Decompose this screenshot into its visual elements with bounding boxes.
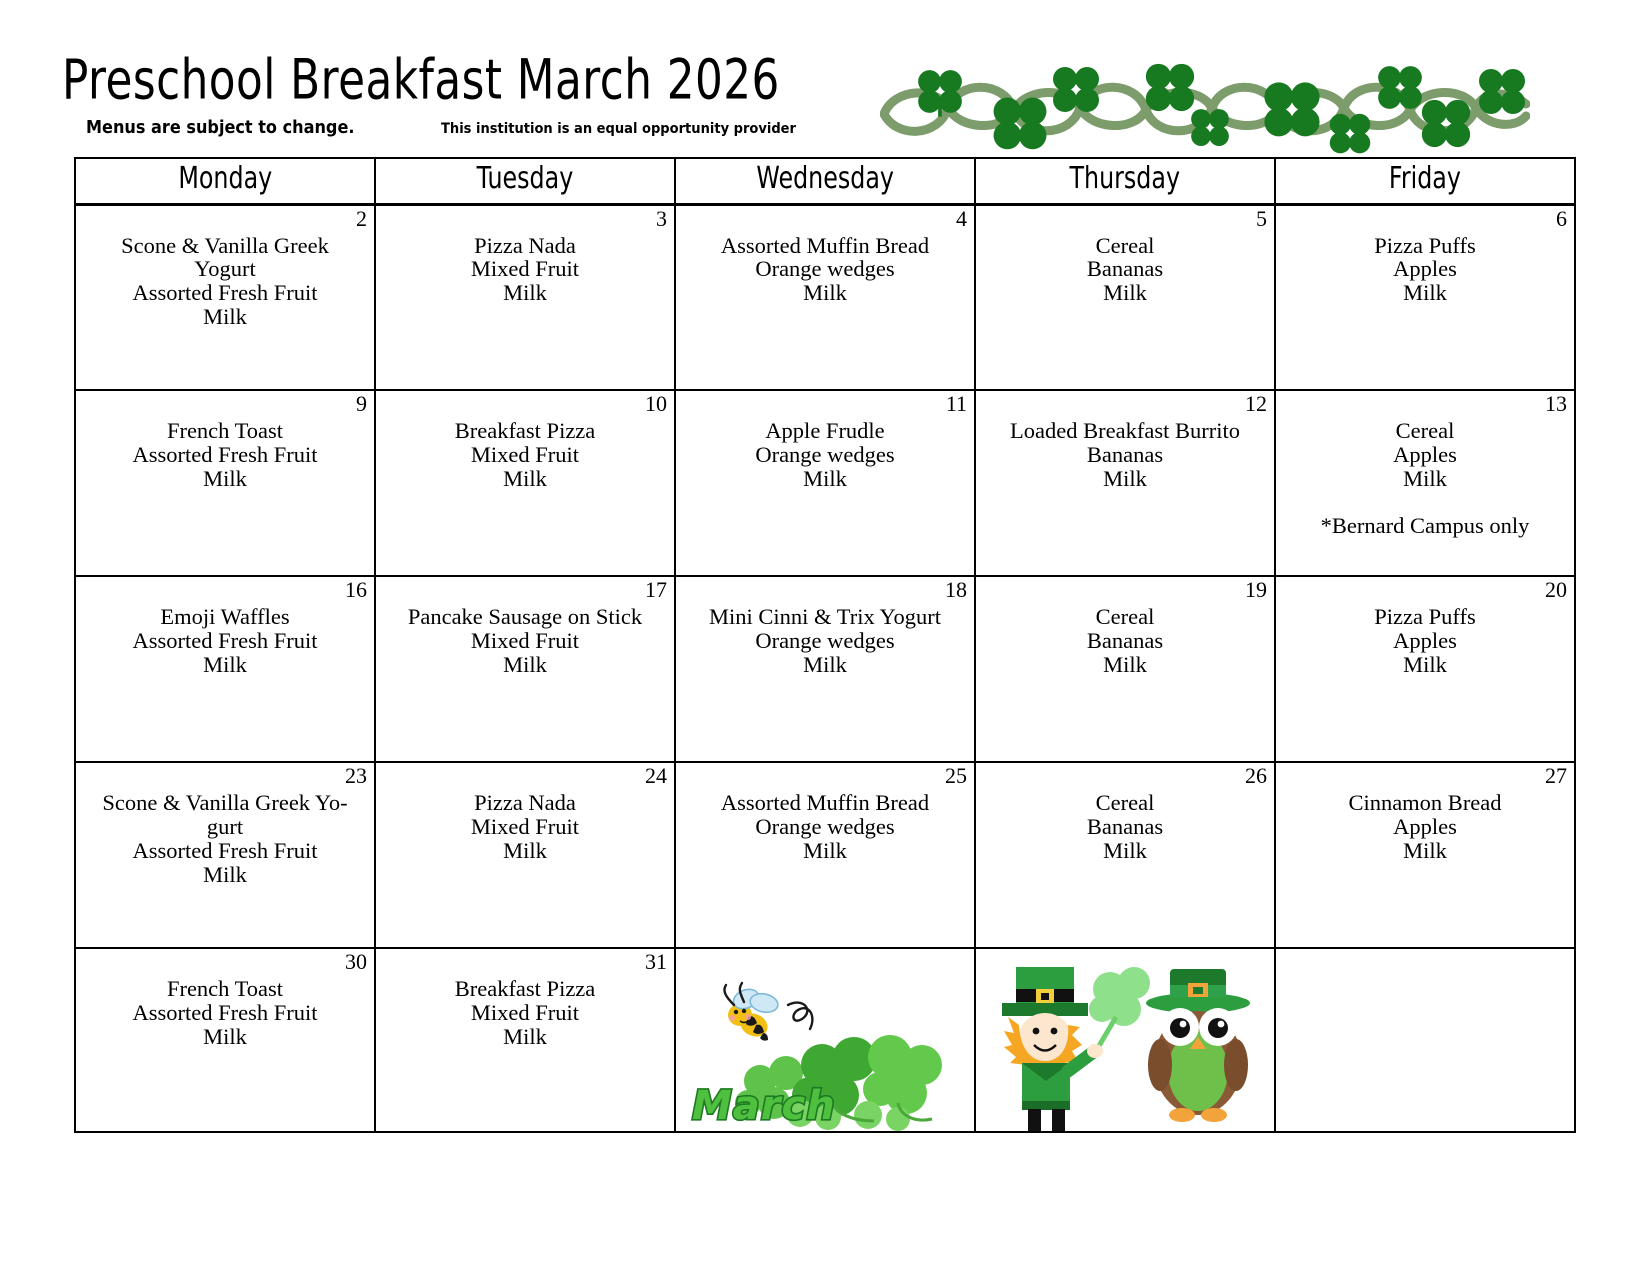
day-cell[interactable]: 17 Pancake Sausage on Stick Mixed Fruit …: [375, 576, 675, 762]
day-cell[interactable]: 30 French Toast Assorted Fresh Fruit Mil…: [75, 948, 375, 1132]
weekday-header-wednesday: Wednesday: [675, 158, 975, 204]
day-number: 23: [345, 764, 367, 788]
day-menu: Scone & Vanilla Greek Yogurt Assorted Fr…: [76, 206, 374, 329]
day-menu: Pizza Nada Mixed Fruit Milk: [376, 206, 674, 306]
day-menu: French Toast Assorted Fresh Fruit Milk: [76, 949, 374, 1049]
day-number: 16: [345, 578, 367, 602]
weekday-header-monday: Monday: [75, 158, 375, 204]
day-cell-clipart-march: March: [675, 948, 975, 1132]
day-number: 20: [1545, 578, 1567, 602]
day-cell[interactable]: 3 Pizza Nada Mixed Fruit Milk: [375, 204, 675, 390]
day-number: 11: [946, 392, 967, 416]
day-menu: Scone & Vanilla Greek Yo- gurt Assorted …: [76, 763, 374, 886]
day-number: 18: [945, 578, 967, 602]
day-number: 5: [1256, 207, 1267, 231]
day-number: 27: [1545, 764, 1567, 788]
shamrock-vine-border-icon: [880, 48, 1530, 156]
subtitle-group: Menus are subject to change. This instit…: [86, 118, 946, 144]
day-number: 3: [656, 207, 667, 231]
day-number: 30: [345, 950, 367, 974]
day-cell[interactable]: 18 Mini Cinni & Trix Yogurt Orange wedge…: [675, 576, 975, 762]
day-menu: Pancake Sausage on Stick Mixed Fruit Mil…: [376, 577, 674, 677]
day-number: 31: [645, 950, 667, 974]
day-cell[interactable]: 2 Scone & Vanilla Greek Yogurt Assorted …: [75, 204, 375, 390]
weekday-header-tuesday: Tuesday: [375, 158, 675, 204]
weekday-header-row: Monday Tuesday Wednesday Thursday Friday: [75, 158, 1575, 204]
day-number: 10: [645, 392, 667, 416]
day-menu: French Toast Assorted Fresh Fruit Milk: [76, 391, 374, 491]
week-row: 30 French Toast Assorted Fresh Fruit Mil…: [75, 948, 1575, 1132]
march-bee-shamrocks-clipart-icon: March: [682, 953, 974, 1131]
day-menu: Cinnamon Bread Apples Milk: [1276, 763, 1574, 863]
day-menu: Mini Cinni & Trix Yogurt Orange wedges M…: [676, 577, 974, 677]
weekday-header-friday: Friday: [1275, 158, 1575, 204]
weekday-header-thursday: Thursday: [975, 158, 1275, 204]
day-cell[interactable]: 20 Pizza Puffs Apples Milk: [1275, 576, 1575, 762]
day-number: 4: [956, 207, 967, 231]
day-number: 12: [1245, 392, 1267, 416]
day-cell[interactable]: 23 Scone & Vanilla Greek Yo- gurt Assort…: [75, 762, 375, 948]
week-row: 16 Emoji Waffles Assorted Fresh Fruit Mi…: [75, 576, 1575, 762]
day-menu: Cereal Apples Milk *Bernard Campus only: [1276, 391, 1574, 538]
day-cell[interactable]: 13 Cereal Apples Milk *Bernard Campus on…: [1275, 390, 1575, 576]
day-menu: Pizza Puffs Apples Milk: [1276, 577, 1574, 677]
day-menu: Pizza Nada Mixed Fruit Milk: [376, 763, 674, 863]
day-number: 25: [945, 764, 967, 788]
day-menu: Breakfast Pizza Mixed Fruit Milk: [376, 391, 674, 491]
day-cell[interactable]: 31 Breakfast Pizza Mixed Fruit Milk: [375, 948, 675, 1132]
day-cell-clipart-leprechaun-owl: [975, 948, 1275, 1132]
day-number: 6: [1556, 207, 1567, 231]
day-number: 17: [645, 578, 667, 602]
day-menu: Breakfast Pizza Mixed Fruit Milk: [376, 949, 674, 1049]
day-cell[interactable]: 24 Pizza Nada Mixed Fruit Milk: [375, 762, 675, 948]
day-cell[interactable]: 11 Apple Frudle Orange wedges Milk: [675, 390, 975, 576]
day-menu: Cereal Bananas Milk: [976, 763, 1274, 863]
day-cell[interactable]: 12 Loaded Breakfast Burrito Bananas Milk: [975, 390, 1275, 576]
equal-opportunity-statement: This institution is an equal opportunity…: [441, 121, 796, 137]
day-number: 26: [1245, 764, 1267, 788]
day-cell[interactable]: 19 Cereal Bananas Milk: [975, 576, 1275, 762]
day-number: 13: [1545, 392, 1567, 416]
day-cell[interactable]: 27 Cinnamon Bread Apples Milk: [1275, 762, 1575, 948]
week-row: 9 French Toast Assorted Fresh Fruit Milk…: [75, 390, 1575, 576]
march-word-art-text: March: [692, 1083, 836, 1129]
day-number: 24: [645, 764, 667, 788]
menus-subject-to-change-note: Menus are subject to change.: [86, 118, 354, 138]
day-cell[interactable]: 5 Cereal Bananas Milk: [975, 204, 1275, 390]
day-menu: Pizza Puffs Apples Milk: [1276, 206, 1574, 306]
day-cell[interactable]: 4 Assorted Muffin Bread Orange wedges Mi…: [675, 204, 975, 390]
day-cell[interactable]: 26 Cereal Bananas Milk: [975, 762, 1275, 948]
day-menu: Assorted Muffin Bread Orange wedges Milk: [676, 763, 974, 863]
day-cell[interactable]: 16 Emoji Waffles Assorted Fresh Fruit Mi…: [75, 576, 375, 762]
week-row: 2 Scone & Vanilla Greek Yogurt Assorted …: [75, 204, 1575, 390]
page-header: Preschool Breakfast March 2026 Menus are…: [0, 0, 1650, 152]
week-row: 23 Scone & Vanilla Greek Yo- gurt Assort…: [75, 762, 1575, 948]
day-number: 9: [356, 392, 367, 416]
day-cell[interactable]: 6 Pizza Puffs Apples Milk: [1275, 204, 1575, 390]
page-title: Preschool Breakfast March 2026: [62, 48, 780, 113]
day-menu: Emoji Waffles Assorted Fresh Fruit Milk: [76, 577, 374, 677]
day-number: 2: [356, 207, 367, 231]
leprechaun-owl-clipart-icon: [986, 953, 1275, 1131]
menu-calendar: Monday Tuesday Wednesday Thursday Friday…: [74, 157, 1576, 1133]
day-menu: Apple Frudle Orange wedges Milk: [676, 391, 974, 491]
day-cell-empty: [1275, 948, 1575, 1132]
day-cell[interactable]: 25 Assorted Muffin Bread Orange wedges M…: [675, 762, 975, 948]
day-menu: Assorted Muffin Bread Orange wedges Milk: [676, 206, 974, 306]
day-number: 19: [1245, 578, 1267, 602]
day-cell[interactable]: 10 Breakfast Pizza Mixed Fruit Milk: [375, 390, 675, 576]
day-menu: Cereal Bananas Milk: [976, 206, 1274, 306]
day-menu: Cereal Bananas Milk: [976, 577, 1274, 677]
day-cell[interactable]: 9 French Toast Assorted Fresh Fruit Milk: [75, 390, 375, 576]
day-menu: Loaded Breakfast Burrito Bananas Milk: [976, 391, 1274, 491]
